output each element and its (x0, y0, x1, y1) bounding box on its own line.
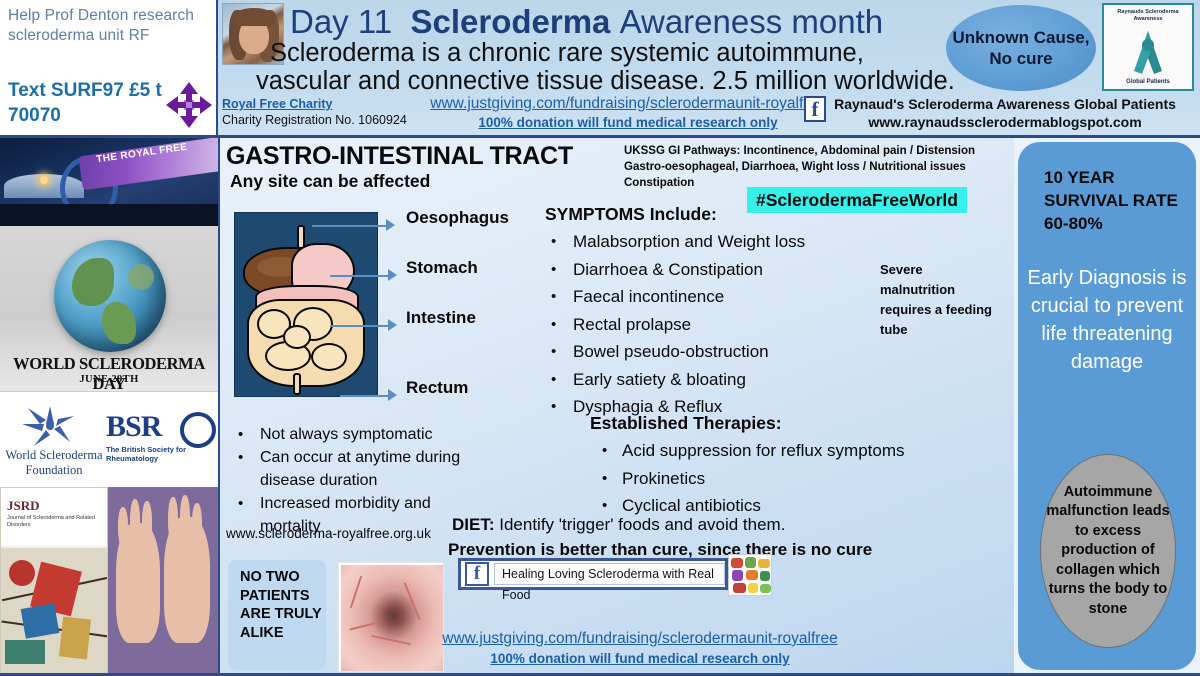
unknown-cause-callout: Unknown Cause, No cure (946, 5, 1096, 91)
wsf-line-1: World Scleroderma (2, 448, 106, 463)
justgiving-note-bottom: 100% donation will fund medical research… (320, 649, 960, 668)
list-item: Diarrhoea & Constipation (545, 256, 905, 284)
diet-advice: DIET: Identify 'trigger' foods and avoid… (452, 515, 785, 535)
jsrd-cover-artwork (1, 548, 108, 676)
list-item: Can occur at anytime during disease dura… (228, 446, 478, 492)
raynauds-logo: Raynauds Scleroderma Awareness Global Pa… (1102, 3, 1194, 91)
facebook-page-name[interactable]: Healing Loving Scleroderma with Real Foo… (494, 563, 725, 585)
wsf-starburst-icon (20, 402, 80, 450)
list-item: Acid suppression for reflux symptoms (590, 437, 990, 465)
world-scleroderma-day-graphic: WORLD SCLERODERMA DAY JUNE 29TH (0, 226, 218, 391)
title-day: Day 11 (290, 3, 392, 40)
arrow-intestine (330, 316, 400, 336)
jsrd-full-name: Journal of Scleroderma and Related Disor… (7, 515, 101, 529)
infographic-page: Help Prof Denton research scleroderma un… (0, 0, 1200, 676)
bsr-logo: BSR The British Society for Rheumatology (106, 410, 218, 470)
jsrd-journal-cover: JSRD Journal of Scleroderma and Related … (0, 487, 108, 676)
unknown-cause-text: Unknown Cause, No cure (946, 27, 1096, 69)
no-two-patients-callout: NO TWO PATIENTS ARE TRULY ALIKE (228, 560, 326, 670)
teal-awareness-ribbon-icon (1122, 25, 1174, 77)
four-way-arrows-icon (162, 78, 216, 132)
symptoms-list: Malabsorption and Weight loss Diarrhoea … (545, 228, 905, 421)
right-info-card: 10 YEAR SURVIVAL RATE 60-80% Early Diagn… (1018, 142, 1196, 670)
ukssg-line-2: Gastro-oesophageal, Diarrhoea, Wight los… (624, 159, 1014, 175)
header-left-panel: Help Prof Denton research scleroderma un… (0, 0, 218, 138)
scleroderma-royalfree-url[interactable]: www.scleroderma-royalfree.org.uk (226, 526, 431, 541)
header-band: Help Prof Denton research scleroderma un… (0, 0, 1200, 138)
raynauds-logo-top-text: Raynauds Scleroderma Awareness (1104, 9, 1192, 23)
facebook-page-bar[interactable]: f Healing Loving Scleroderma with Real F… (458, 558, 728, 590)
wsf-line-2: Foundation (2, 463, 106, 478)
organ-label-oesophagus: Oesophagus (406, 208, 509, 228)
blog-url[interactable]: www.raynaudssclerodermablogspot.com (830, 113, 1180, 131)
list-item: Rectal prolapse (545, 311, 905, 339)
scleroderma-hands-photo (108, 487, 218, 676)
survival-rate-stat: 10 YEAR SURVIVAL RATE 60-80% (1044, 166, 1184, 235)
arrow-stomach (330, 266, 400, 286)
world-day-title: WORLD SCLERODERMA DAY (0, 354, 218, 391)
symptoms-heading: SYMPTOMS Include: (545, 204, 717, 225)
wsf-label: World Scleroderma Foundation (2, 448, 106, 478)
list-item: Early satiety & bloating (545, 366, 905, 394)
severe-malnutrition-note: Severe malnutrition requires a feeding t… (880, 260, 1000, 340)
partner-logos: World Scleroderma Foundation BSR The Bri… (0, 391, 218, 487)
early-diagnosis-message: Early Diagnosis is crucial to prevent li… (1026, 264, 1188, 376)
title-scleroderma: Scleroderma (410, 3, 610, 40)
royal-free-hospital-photo: THE ROYAL FREE (0, 138, 218, 226)
section-subtitle: Any site can be affected (230, 171, 430, 192)
list-item: Malabsorption and Weight loss (545, 228, 905, 256)
organ-label-rectum: Rectum (406, 378, 468, 398)
facebook-page-block: Raynaud's Scleroderma Awareness Global P… (830, 95, 1180, 131)
section-title: GASTRO-INTESTINAL TRACT (226, 142, 573, 171)
world-day-date: JUNE 29TH (0, 374, 218, 385)
arrow-oesophagus (312, 216, 398, 236)
list-item: Faecal incontinence (545, 283, 905, 311)
arrow-rectum (340, 386, 400, 406)
title-rest: Awareness month (620, 3, 884, 40)
therapies-list: Acid suppression for reflux symptoms Pro… (590, 437, 990, 520)
main-content-panel: GASTRO-INTESTINAL TRACT Any site can be … (218, 138, 1014, 676)
organ-label-stomach: Stomach (406, 258, 478, 278)
globe-icon (54, 240, 166, 352)
header-main-panel: Day 11 Scleroderma Awareness month Scler… (218, 0, 1200, 138)
list-item: Not always symptomatic (228, 423, 478, 446)
autoimmune-explanation-text: Autoimmune malfunction leads to excess p… (1041, 483, 1175, 620)
ukssg-line-1: UKSSG GI Pathways: Incontinence, Abdomin… (624, 143, 1014, 159)
facebook-icon[interactable]: f (465, 562, 489, 586)
digestive-system-illustration (234, 212, 378, 397)
footer-justgiving-block[interactable]: www.justgiving.com/fundraising/scleroder… (320, 628, 960, 668)
autoimmune-explanation-callout: Autoimmune malfunction leads to excess p… (1040, 454, 1176, 648)
left-sidebar: THE ROYAL FREE WORLD SCLERODERMA DAY JUN… (0, 138, 218, 676)
diet-label: DIET: (452, 515, 495, 534)
research-appeal-text: Help Prof Denton research scleroderma un… (8, 6, 208, 46)
facts-list: Not always symptomatic Can occur at anyt… (228, 423, 478, 538)
hashtag-badge: #SclerodermaFreeWorld (747, 187, 967, 213)
list-item: Prokinetics (590, 465, 990, 493)
organ-label-intestine: Intestine (406, 308, 476, 328)
jsrd-abbrev: JSRD (7, 498, 101, 514)
bsr-swirl-icon (180, 412, 216, 448)
diet-text: Identify 'trigger' foods and avoid them. (499, 515, 785, 534)
prevention-statement: Prevention is better than cure, since th… (448, 540, 872, 560)
facebook-icon[interactable]: f (804, 96, 826, 122)
raynauds-logo-bottom-text: Global Patients (1104, 79, 1192, 85)
right-sidebar: 10 YEAR SURVIVAL RATE 60-80% Early Diagn… (1014, 138, 1200, 676)
list-item: Bowel pseudo-obstruction (545, 338, 905, 366)
real-food-thumbnail (728, 554, 772, 596)
justgiving-link-bottom[interactable]: www.justgiving.com/fundraising/scleroder… (320, 628, 960, 649)
world-scleroderma-foundation-logo: World Scleroderma Foundation (2, 396, 106, 486)
ukssg-pathways-note: UKSSG GI Pathways: Incontinence, Abdomin… (624, 143, 1014, 191)
therapies-heading: Established Therapies: (590, 413, 782, 434)
facebook-page-name: Raynaud's Scleroderma Awareness Global P… (830, 95, 1180, 113)
